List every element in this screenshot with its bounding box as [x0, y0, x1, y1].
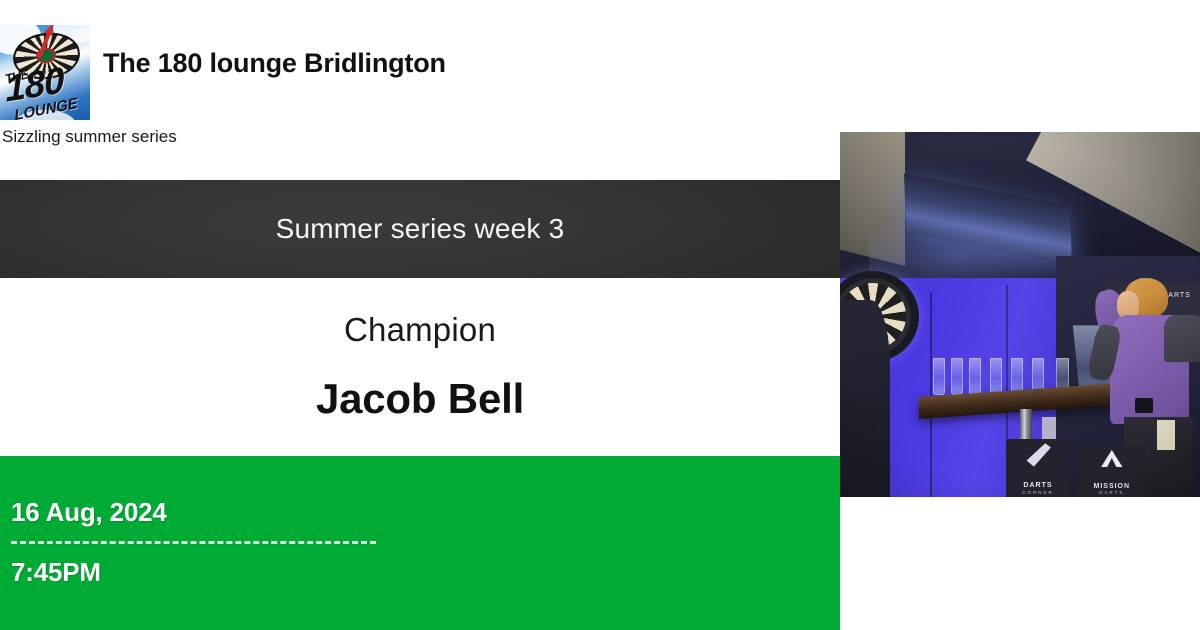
photo-sponsor-a-name: DARTS: [1006, 482, 1071, 489]
photo-wall-poster: [1157, 420, 1175, 449]
photo-sponsor-a-sub: CORNER: [1006, 490, 1071, 495]
photo-glass: [969, 358, 981, 395]
photo-wall-seam: [930, 293, 932, 497]
photo-player-shoulder: [1164, 315, 1200, 362]
event-poster: THE 180 LOUNGE The 180 lounge Bridlingto…: [0, 0, 1200, 630]
event-photo-column: HUMBERSIDE MISSION DARTS: [840, 0, 1200, 630]
logo-wordmark: THE 180 LOUNGE: [4, 64, 89, 117]
organizer-title: The 180 lounge Bridlington: [103, 48, 446, 79]
event-banner-title: Summer series week 3: [276, 213, 565, 245]
datetime-horizontal-divider: [11, 541, 376, 544]
organizer-subtitle: Sizzling summer series: [2, 127, 177, 147]
event-info-panel: THE 180 LOUNGE The 180 lounge Bridlingto…: [0, 0, 840, 630]
photo-glass: [933, 358, 945, 395]
mission-darts-logo-icon: [1101, 450, 1123, 467]
event-banner: Summer series week 3: [0, 180, 840, 278]
organizer-header: THE 180 LOUNGE The 180 lounge Bridlingto…: [0, 25, 840, 120]
photo-player-watch: [1135, 398, 1153, 413]
photo-spectator: [840, 300, 890, 497]
event-details-bar: 16 Aug, 2024 7:45PM The 180 lounge 3 cli…: [0, 456, 840, 630]
champion-section: Champion Jacob Bell: [0, 278, 840, 456]
event-time: 7:45PM: [11, 557, 101, 588]
champion-label: Champion: [0, 311, 840, 349]
champion-name: Jacob Bell: [0, 375, 840, 423]
event-date: 16 Aug, 2024: [11, 497, 167, 528]
event-photo: HUMBERSIDE MISSION DARTS: [840, 132, 1200, 497]
photo-sponsor-b-sub: DARTS: [1078, 490, 1146, 495]
photo-sponsor-board-b: MISSION DARTS: [1078, 446, 1146, 497]
darts-corner-logo-icon: [1025, 443, 1051, 466]
photo-sponsor-board-a: DARTS CORNER: [1006, 439, 1071, 497]
organizer-logo: THE 180 LOUNGE: [0, 25, 90, 120]
photo-glass: [951, 358, 963, 395]
photo-glass: [990, 358, 1002, 395]
photo-sponsor-b-name: MISSION: [1078, 483, 1146, 490]
